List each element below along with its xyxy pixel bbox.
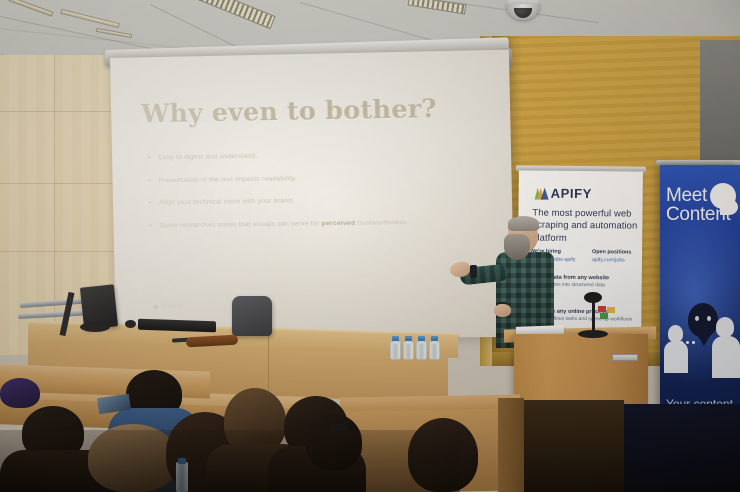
wall-far-corner xyxy=(700,40,740,160)
slide-bullet: Easy to digest and understand. xyxy=(146,148,451,163)
microphone-flags xyxy=(598,306,614,318)
ceiling-light-strip xyxy=(60,9,119,28)
slide-bullet-list: Easy to digest and understand. Presentat… xyxy=(146,148,453,243)
slide-bullet-emphasis: perceived xyxy=(321,219,355,227)
speaker-hair xyxy=(508,216,539,231)
lectern-nameplate xyxy=(612,354,638,361)
slide-bullet-text: Some researches states that visuals can … xyxy=(160,220,322,229)
apify-column: Open positions apify.com/jobs xyxy=(592,249,643,264)
slide-title: Why even to bother? xyxy=(141,94,437,129)
slide-logo-text: shopian xyxy=(161,303,183,309)
slide-footer-logo: shopian xyxy=(153,303,183,309)
speaker-wristwatch xyxy=(470,265,477,278)
lecture-hall-photo: Why even to bother? Easy to digest and u… xyxy=(0,0,740,492)
apify-column-heading: Open positions xyxy=(592,249,643,256)
ceiling-light-strip xyxy=(9,0,54,17)
slide-bullet: Some researches states that visuals can … xyxy=(147,217,452,231)
bench-divider xyxy=(498,398,524,492)
bench-dark-panel xyxy=(624,404,740,492)
banner-ellipsis-icon xyxy=(680,341,695,344)
water-bottle xyxy=(429,336,440,360)
desk-seam xyxy=(268,330,269,392)
apify-mark-icon xyxy=(535,187,548,199)
slide-bullet-tail: trustworthiness. xyxy=(355,219,409,227)
slide-logo-mark-icon xyxy=(153,304,158,309)
speaker-hand-holding-clicker xyxy=(494,304,511,317)
slide-bullet: Align your technical voice with your bra… xyxy=(147,194,452,208)
apify-logo-text: APIFY xyxy=(551,186,592,201)
banner-figure-left-icon xyxy=(664,325,688,371)
water-bottle xyxy=(390,336,401,360)
microphone-head-icon xyxy=(584,292,602,303)
banner-figure-right-icon xyxy=(712,317,740,377)
computer-mouse xyxy=(125,320,136,328)
meet-content-title-line1: Meet xyxy=(666,187,730,206)
water-bottles xyxy=(390,334,446,360)
meet-content-title-line2: Content xyxy=(666,206,730,225)
water-bottle xyxy=(416,336,427,360)
speaker-beard xyxy=(504,234,530,260)
bench-dark-panel xyxy=(524,400,624,492)
microphone-stand xyxy=(592,300,595,334)
banner-bubble-tail-icon xyxy=(696,333,712,346)
foreground-shadow xyxy=(0,430,460,492)
slide-bullet: Presentation of the text impacts readabi… xyxy=(147,171,452,185)
monitor-base xyxy=(80,322,110,332)
water-bottle xyxy=(403,336,414,360)
ceiling-vent-grill xyxy=(192,0,275,29)
apify-logo: APIFY xyxy=(535,186,592,202)
office-chair xyxy=(232,296,272,336)
apify-column-link: apify.com/jobs xyxy=(592,257,643,264)
meet-content-title: Meet Content xyxy=(666,187,730,224)
audience-head xyxy=(0,378,40,408)
